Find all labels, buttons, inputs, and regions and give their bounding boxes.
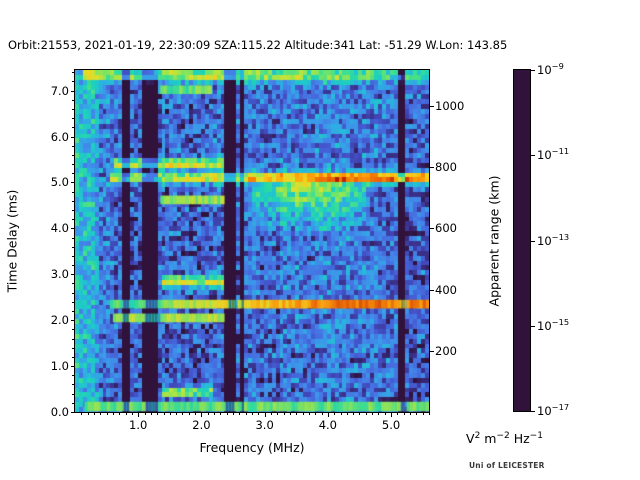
colorbar: 10−910−1110−1310−1510−17 [513,69,531,412]
y-tick-label: 7.0 [51,84,69,98]
x-tick-minor [353,412,354,415]
x-tick-label: 1.0 [129,418,147,432]
x-tick-minor [214,412,215,415]
x-tick-minor [284,412,285,415]
y-tick-minor [72,100,75,101]
ionogram-axes: 0.01.02.03.04.05.06.07.02004006008001000… [74,69,430,413]
x-tick-minor [252,412,253,415]
ionogram-heatmap [75,70,429,412]
x-tick-minor [258,412,259,415]
y-tick-label: 5.0 [51,175,69,189]
x-tick-minor [119,412,120,415]
y-tick-minor [72,201,75,202]
x-tick-minor [385,412,386,415]
x-tick-minor [397,412,398,415]
colorbar-tick [530,411,535,412]
x-tick-minor [341,412,342,415]
y-tick-minor [72,339,75,340]
y-tick-minor [72,384,75,385]
x-tick-minor [347,412,348,415]
y2-tick-major [429,106,434,107]
y-tick-minor [72,293,75,294]
x-tick-minor [227,412,228,415]
x-tick-minor [126,412,127,415]
x-tick-minor [195,412,196,415]
y-axis-label: Time Delay (ms) [5,190,20,293]
y-tick-major [71,228,76,229]
x-tick-minor [132,412,133,415]
y2-tick-major [429,228,434,229]
y-tick-minor [72,348,75,349]
y2-tick-label: 400 [435,283,457,297]
x-tick-label: 5.0 [382,418,400,432]
x-tick-minor [378,412,379,415]
y-tick-minor [72,357,75,358]
x-tick-label: 3.0 [255,418,273,432]
y-tick-minor [72,247,75,248]
y-tick-label: 6.0 [51,130,69,144]
x-tick-major [265,412,266,417]
y2-tick-label: 600 [435,221,457,235]
colorbar-tick-label: 10−11 [537,148,569,162]
y-tick-minor [72,283,75,284]
y-tick-major [71,137,76,138]
colorbar-units-label: V2 m−2 Hz−1 [466,431,543,446]
x-tick-minor [164,412,165,415]
x-tick-minor [423,412,424,415]
y-tick-major [71,182,76,183]
colorbar-tick [530,326,535,327]
x-tick-minor [271,412,272,415]
x-tick-minor [88,412,89,415]
x-tick-minor [334,412,335,415]
x-tick-minor [208,412,209,415]
y-tick-label: 2.0 [51,313,69,327]
colorbar-tick-label: 10−13 [537,234,569,248]
y-tick-minor [72,210,75,211]
ionogram-figure: Orbit:21553, 2021-01-19, 22:30:09 SZA:11… [0,0,640,480]
y2-tick-major [429,351,434,352]
colorbar-tick [530,155,535,156]
y-tick-label: 4.0 [51,221,69,235]
y-tick-minor [72,72,75,73]
institution-credit: Uni of LEICESTER [469,461,545,470]
x-tick-minor [81,412,82,415]
x-tick-minor [145,412,146,415]
x-tick-minor [309,412,310,415]
x-tick-minor [290,412,291,415]
x-tick-major [328,412,329,417]
x-tick-minor [182,412,183,415]
y-tick-minor [72,192,75,193]
x-tick-minor [359,412,360,415]
y2-tick-label: 800 [435,160,457,174]
y-tick-minor [72,403,75,404]
x-tick-minor [220,412,221,415]
x-tick-label: 2.0 [192,418,210,432]
x-tick-major [138,412,139,417]
x-tick-minor [233,412,234,415]
x-axis-label: Frequency (MHz) [199,440,304,455]
y-tick-minor [72,394,75,395]
y-tick-minor [72,127,75,128]
y-tick-minor [72,81,75,82]
y-tick-minor [72,375,75,376]
colorbar-tick [530,70,535,71]
y-tick-minor [72,155,75,156]
colorbar-gradient [514,70,530,411]
x-tick-minor [277,412,278,415]
x-tick-minor [416,412,417,415]
y-tick-minor [72,265,75,266]
x-tick-minor [113,412,114,415]
y-tick-minor [72,311,75,312]
y-tick-minor [72,256,75,257]
y2-tick-label: 1000 [435,99,464,113]
y-tick-minor [72,164,75,165]
colorbar-tick [530,241,535,242]
y2-tick-major [429,167,434,168]
y2-tick-label: 200 [435,344,457,358]
y-tick-minor [72,302,75,303]
x-tick-minor [366,412,367,415]
y-tick-label: 0.0 [51,405,69,419]
plot-title: Orbit:21553, 2021-01-19, 22:30:09 SZA:11… [8,38,638,52]
x-tick-minor [322,412,323,415]
y-tick-minor [72,219,75,220]
colorbar-tick-label: 10−17 [537,404,569,418]
x-tick-minor [303,412,304,415]
x-tick-minor [151,412,152,415]
x-tick-minor [107,412,108,415]
x-tick-minor [157,412,158,415]
x-tick-minor [94,412,95,415]
x-tick-label: 4.0 [319,418,337,432]
y2-tick-major [429,290,434,291]
x-tick-minor [100,412,101,415]
y-tick-major [71,412,76,413]
x-tick-minor [296,412,297,415]
y-tick-minor [72,238,75,239]
y-tick-minor [72,329,75,330]
y-tick-label: 1.0 [51,359,69,373]
x-tick-minor [315,412,316,415]
y2-axis-label: Apparent range (km) [487,176,502,307]
colorbar-tick-label: 10−15 [537,319,569,333]
x-tick-major [391,412,392,417]
x-tick-minor [170,412,171,415]
colorbar-tick-label: 10−9 [537,63,564,77]
x-tick-minor [410,412,411,415]
y-tick-major [71,320,76,321]
y-tick-minor [72,118,75,119]
x-tick-minor [189,412,190,415]
x-tick-minor [404,412,405,415]
y-tick-major [71,91,76,92]
y-tick-minor [72,173,75,174]
y-tick-major [71,274,76,275]
x-tick-minor [372,412,373,415]
x-tick-minor [176,412,177,415]
x-tick-minor [239,412,240,415]
y-tick-label: 3.0 [51,267,69,281]
x-tick-major [201,412,202,417]
y-tick-minor [72,146,75,147]
x-tick-minor [246,412,247,415]
y-tick-major [71,366,76,367]
x-tick-minor [429,412,430,415]
y-tick-minor [72,109,75,110]
